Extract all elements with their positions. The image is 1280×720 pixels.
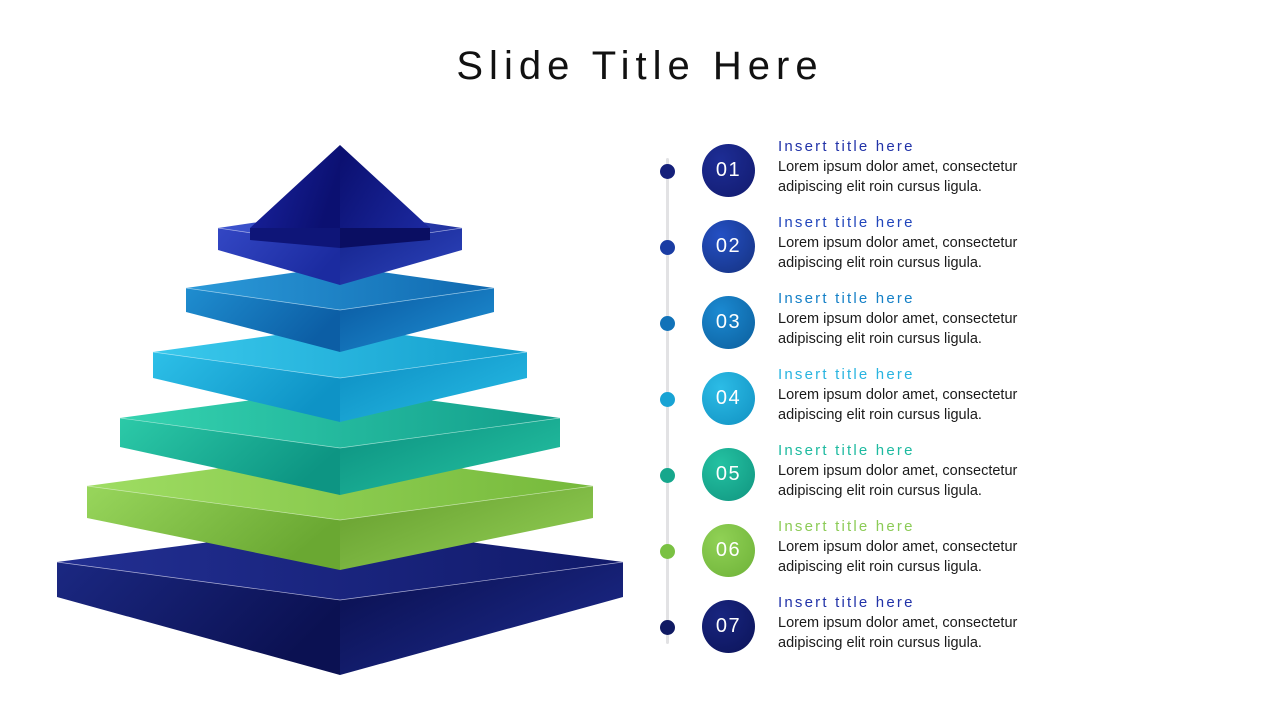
number-badge-03: 03 <box>702 296 755 349</box>
item-text-block: Insert title here Lorem ipsum dolor amet… <box>778 364 1078 425</box>
page-title: Slide Title Here <box>0 44 1280 88</box>
timeline-dot-03 <box>660 316 675 331</box>
number-badge-07: 07 <box>702 600 755 653</box>
item-description: Lorem ipsum dolor amet, consectetur adip… <box>778 538 1050 577</box>
list-item[interactable]: 04 Insert title here Lorem ipsum dolor a… <box>648 364 1248 440</box>
number-badge-02: 02 <box>702 220 755 273</box>
item-title: Insert title here <box>778 288 1078 310</box>
number-badge-01: 01 <box>702 144 755 197</box>
item-title: Insert title here <box>778 440 1078 462</box>
item-text-block: Insert title here Lorem ipsum dolor amet… <box>778 592 1078 653</box>
item-text-block: Insert title here Lorem ipsum dolor amet… <box>778 516 1078 577</box>
timeline-dot-07 <box>660 620 675 635</box>
list-item[interactable]: 03 Insert title here Lorem ipsum dolor a… <box>648 288 1248 364</box>
timeline-dot-01 <box>660 164 675 179</box>
timeline-dot-02 <box>660 240 675 255</box>
item-text-block: Insert title here Lorem ipsum dolor amet… <box>778 136 1078 197</box>
item-text-block: Insert title here Lorem ipsum dolor amet… <box>778 288 1078 349</box>
timeline-dot-04 <box>660 392 675 407</box>
item-description: Lorem ipsum dolor amet, consectetur adip… <box>778 310 1050 349</box>
timeline-dot-06 <box>660 544 675 559</box>
numbered-item-list: 01 Insert title here Lorem ipsum dolor a… <box>648 136 1248 666</box>
list-item[interactable]: 01 Insert title here Lorem ipsum dolor a… <box>648 136 1248 212</box>
item-description: Lorem ipsum dolor amet, consectetur adip… <box>778 234 1050 273</box>
list-item[interactable]: 07 Insert title here Lorem ipsum dolor a… <box>648 592 1248 668</box>
item-description: Lorem ipsum dolor amet, consectetur adip… <box>778 462 1050 501</box>
item-description: Lorem ipsum dolor amet, consectetur adip… <box>778 386 1050 425</box>
item-description: Lorem ipsum dolor amet, consectetur adip… <box>778 158 1050 197</box>
number-badge-04: 04 <box>702 372 755 425</box>
item-text-block: Insert title here Lorem ipsum dolor amet… <box>778 212 1078 273</box>
pyramid-layer-1 <box>250 145 430 248</box>
item-title: Insert title here <box>778 212 1078 234</box>
number-badge-05: 05 <box>702 448 755 501</box>
item-title: Insert title here <box>778 516 1078 538</box>
item-text-block: Insert title here Lorem ipsum dolor amet… <box>778 440 1078 501</box>
list-item[interactable]: 06 Insert title here Lorem ipsum dolor a… <box>648 516 1248 592</box>
list-item[interactable]: 05 Insert title here Lorem ipsum dolor a… <box>648 440 1248 516</box>
list-item[interactable]: 02 Insert title here Lorem ipsum dolor a… <box>648 212 1248 288</box>
item-title: Insert title here <box>778 136 1078 158</box>
item-title: Insert title here <box>778 592 1078 614</box>
number-badge-06: 06 <box>702 524 755 577</box>
item-description: Lorem ipsum dolor amet, consectetur adip… <box>778 614 1050 653</box>
timeline-dot-05 <box>660 468 675 483</box>
pyramid-diagram <box>40 130 640 700</box>
item-title: Insert title here <box>778 364 1078 386</box>
